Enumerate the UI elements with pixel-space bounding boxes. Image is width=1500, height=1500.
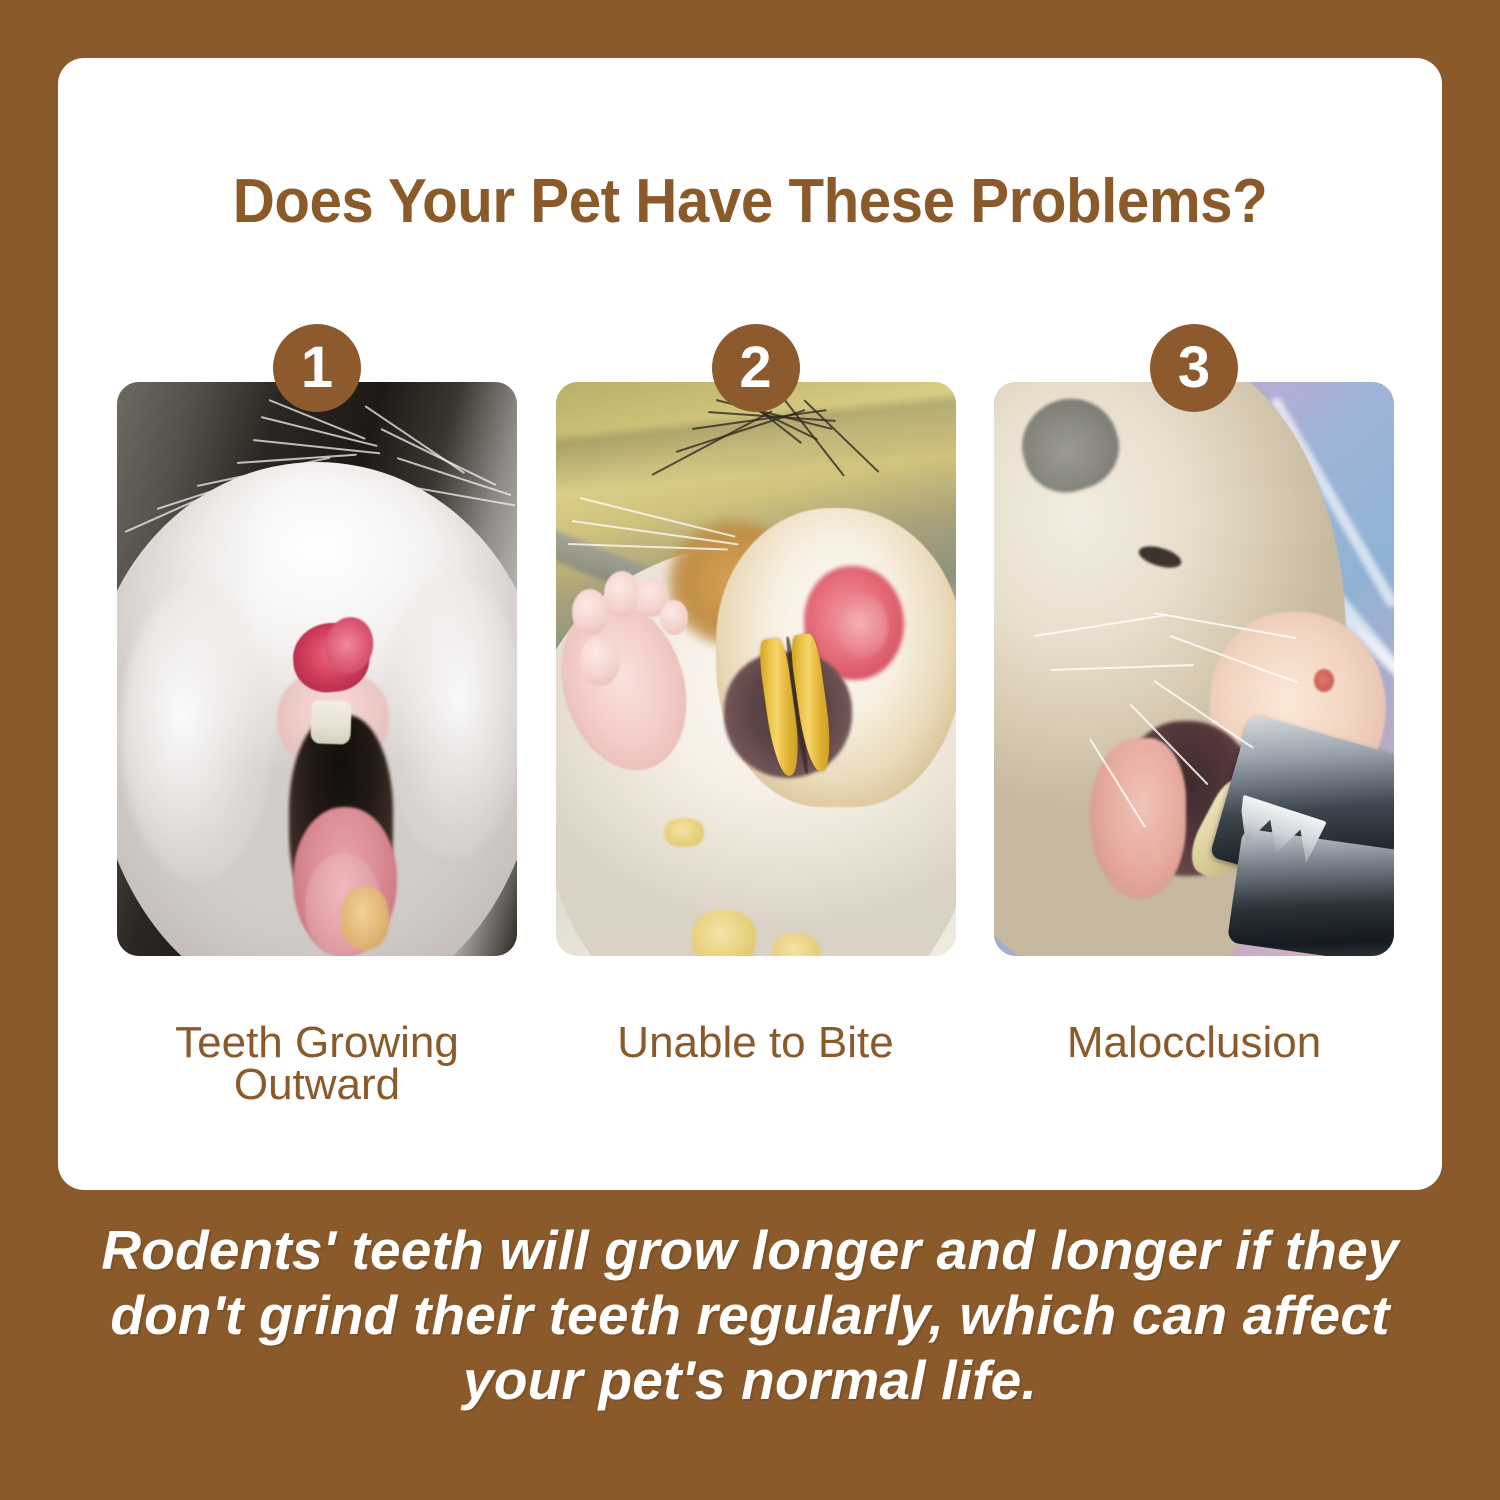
- step-badge-1: 1: [273, 324, 361, 412]
- skin-spot: [1314, 669, 1334, 692]
- step-badge-3: 3: [1150, 324, 1238, 412]
- problem-photo-1: [117, 382, 517, 956]
- overgrown-tooth: [310, 700, 351, 744]
- paw-toe: [572, 589, 608, 635]
- food-crumb: [772, 933, 820, 956]
- footer-description: Rodents' teeth will grow longer and long…: [0, 1218, 1500, 1413]
- step-badge-2: 2: [712, 324, 800, 412]
- problem-photo-3: [994, 382, 1394, 956]
- skin-lesion-detail: [836, 594, 888, 657]
- page-title: Does Your Pet Have These Problems?: [100, 166, 1401, 237]
- content-card: Does Your Pet Have These Problems? 1: [58, 58, 1442, 1190]
- problem-photo-2: [556, 382, 956, 956]
- cheek-left: [121, 583, 273, 881]
- photo-3-content: [994, 382, 1394, 956]
- paw-toe: [660, 600, 688, 634]
- paw-pad: [580, 635, 620, 687]
- food-crumb: [692, 910, 756, 956]
- food-bit: [341, 887, 389, 950]
- paw-toe: [604, 571, 640, 617]
- problem-caption-1: Teeth Growing Outward: [97, 1022, 537, 1106]
- problem-caption-2: Unable to Bite: [536, 1022, 976, 1064]
- cheek-right: [381, 571, 517, 858]
- food-crumb: [664, 818, 704, 847]
- photo-2-content: [556, 382, 956, 956]
- problem-caption-3: Malocclusion: [974, 1022, 1414, 1064]
- photo-1-content: [117, 382, 517, 956]
